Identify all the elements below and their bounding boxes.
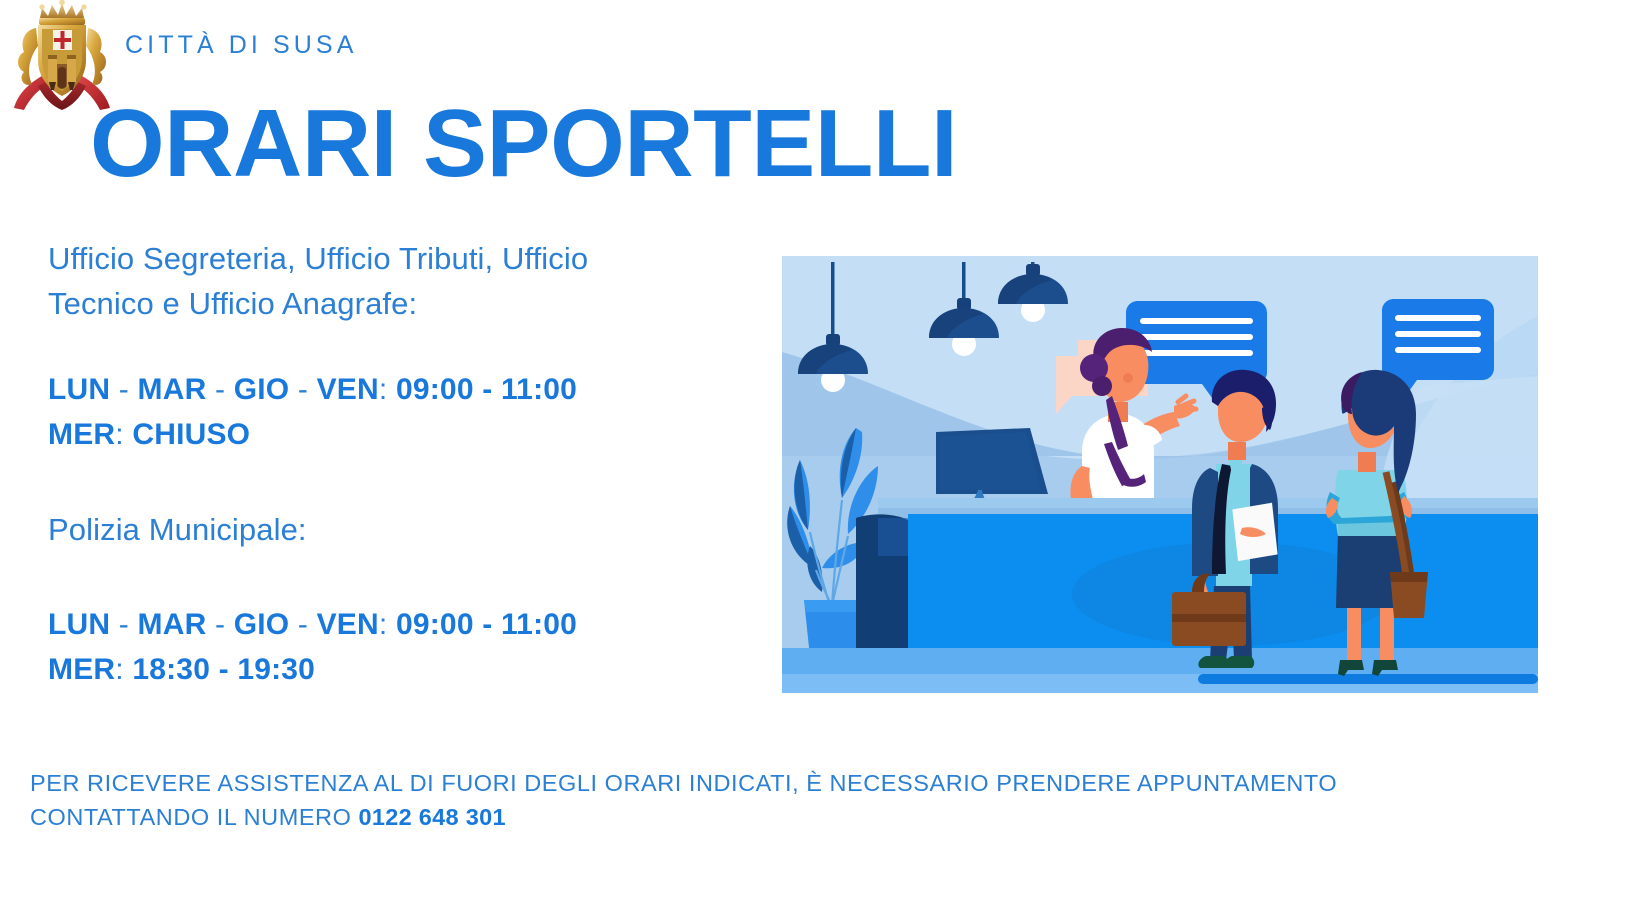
day-separator: -: [206, 608, 233, 641]
hours-colon: :: [379, 373, 396, 406]
offices-label-line1: Ufficio Segreteria, Ufficio Tributi, Uff…: [48, 236, 758, 281]
hours-row: LUN - MAR - GIO - VEN: 09:00 - 11:00: [48, 602, 758, 647]
office-label-polizia: Polizia Municipale:: [48, 507, 758, 552]
day-label: MAR: [138, 608, 207, 641]
day-label: VEN: [317, 608, 379, 641]
hours-value: 09:00 - 11:00: [396, 608, 577, 641]
reception-desk-illustration: [782, 256, 1538, 693]
offices-label-line2: Tecnico e Ufficio Anagrafe:: [48, 281, 758, 326]
brand-name: CITTÀ DI SUSA: [125, 31, 358, 60]
day-separator: -: [206, 373, 233, 406]
phone-number[interactable]: 0122 648 301: [358, 804, 505, 830]
page-title: ORARI SPORTELLI: [90, 96, 957, 192]
day-label: LUN: [48, 608, 110, 641]
day-separator: -: [289, 608, 316, 641]
hours-value: 09:00 - 11:00: [396, 373, 577, 406]
day-label: MAR: [138, 373, 207, 406]
schedule-content: Ufficio Segreteria, Ufficio Tributi, Uff…: [48, 236, 758, 692]
footer-line2: CONTATTANDO IL NUMERO 0122 648 301: [30, 800, 1510, 834]
day-label: VEN: [317, 373, 379, 406]
section-offices-group: Ufficio Segreteria, Ufficio Tributi, Uff…: [48, 236, 758, 326]
hours-colon: :: [379, 608, 396, 641]
hours-value: CHIUSO: [132, 418, 250, 451]
day-separator: -: [110, 608, 137, 641]
day-label: LUN: [48, 373, 110, 406]
footer-note: PER RICEVERE ASSISTENZA AL DI FUORI DEGL…: [30, 766, 1510, 834]
day-separator: -: [110, 373, 137, 406]
day-label: MER: [48, 418, 115, 451]
day-label: GIO: [234, 373, 290, 406]
section2-hours: LUN - MAR - GIO - VEN: 09:00 - 11:00 MER…: [48, 602, 758, 692]
hours-colon: :: [115, 653, 132, 686]
hours-row: MER: 18:30 - 19:30: [48, 647, 758, 692]
footer-line2-prefix: CONTATTANDO IL NUMERO: [30, 804, 358, 830]
hours-value: 18:30 - 19:30: [132, 653, 315, 686]
section1-hours: LUN - MAR - GIO - VEN: 09:00 - 11:00 MER…: [48, 367, 758, 457]
day-label: MER: [48, 653, 115, 686]
day-label: GIO: [234, 608, 290, 641]
hours-row: LUN - MAR - GIO - VEN: 09:00 - 11:00: [48, 367, 758, 412]
day-separator: -: [289, 373, 316, 406]
hours-row: MER: CHIUSO: [48, 412, 758, 457]
footer-line1: PER RICEVERE ASSISTENZA AL DI FUORI DEGL…: [30, 766, 1510, 800]
hours-colon: :: [115, 418, 132, 451]
